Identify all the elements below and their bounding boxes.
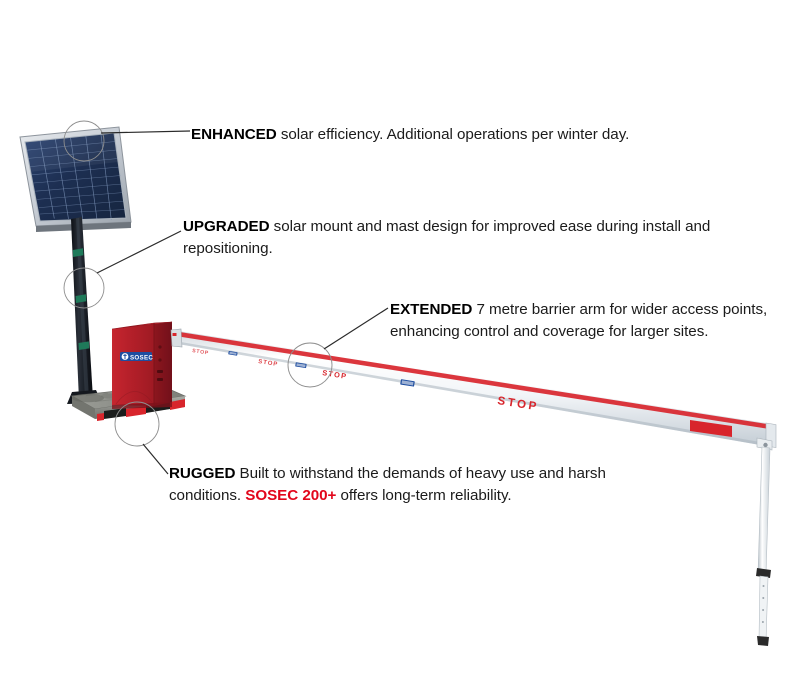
callout-leader-rugged xyxy=(143,444,168,474)
callout-text-extended: EXTENDED 7 metre barrier arm for wider a… xyxy=(390,299,770,342)
svg-text:SOSEC: SOSEC xyxy=(130,355,153,362)
callout-leader-upgraded xyxy=(97,231,181,273)
arm-top-stripe xyxy=(178,332,772,430)
callout-text-rugged: RUGGED Built to withstand the demands of… xyxy=(169,463,679,506)
callout-lead-enhanced: ENHANCED xyxy=(191,126,277,143)
callout-text-enhanced: ENHANCED solar efficiency. Additional op… xyxy=(191,124,711,146)
solar-panel xyxy=(20,127,131,232)
arm-marking-stop-1: STOP xyxy=(192,348,210,357)
brand-name-sosec-200-plus: SOSEC 200+ xyxy=(245,487,336,504)
mast xyxy=(67,217,102,404)
callout-text-upgraded: UPGRADED solar mount and mast design for… xyxy=(183,216,779,259)
callout-body-enhanced: solar efficiency. Additional operations … xyxy=(277,126,630,143)
sosec-logo-badge: SOSEC xyxy=(120,352,153,362)
callout-lead-extended: EXTENDED xyxy=(390,301,472,318)
control-cabinet: SOSEC xyxy=(112,322,172,409)
callout-lead-rugged: RUGGED xyxy=(169,465,235,482)
callout-leader-extended xyxy=(324,308,388,349)
support-leg xyxy=(756,438,772,646)
barrier-arm: STOP STOP STOP STOP xyxy=(171,329,776,448)
cabinet-fitting xyxy=(158,358,161,361)
callout-body-rugged-after: offers long-term reliability. xyxy=(336,487,511,504)
leg-foot xyxy=(757,636,769,646)
product-feature-illustration: SOSEC STOP STOP STOP STOP xyxy=(0,0,794,680)
callout-lead-upgraded: UPGRADED xyxy=(183,218,270,235)
cabinet-fitting xyxy=(158,345,161,348)
